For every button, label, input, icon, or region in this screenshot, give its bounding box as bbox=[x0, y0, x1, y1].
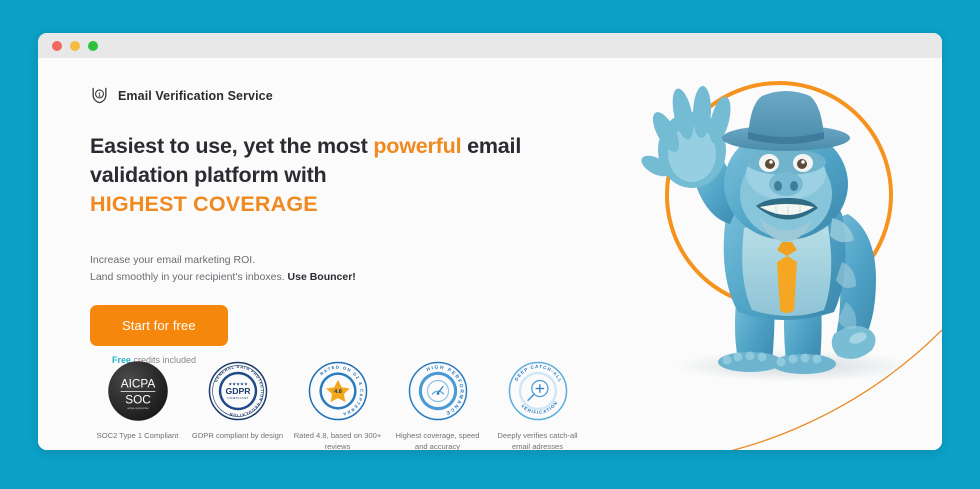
bouncer-shield-icon: 1 bbox=[90, 86, 109, 105]
badge-rating[interactable]: RATED ON G2 & CAPTERRA 4.8 Rated 4.8, ba… bbox=[290, 360, 385, 450]
badge-soc2[interactable]: AICPA SOC aicpa.org/soc4so SOC2 Type 1 C… bbox=[90, 360, 185, 450]
badge-caption: SOC2 Type 1 Compliant bbox=[90, 431, 185, 442]
deep-catch-all-verification-badge-icon: DEEP CATCH-ALL VERIFICATION bbox=[507, 360, 569, 422]
badge-catch-all[interactable]: DEEP CATCH-ALL VERIFICATION Deeply verif… bbox=[490, 360, 585, 450]
start-for-free-button[interactable]: Start for free bbox=[90, 305, 228, 346]
badge-gdpr[interactable]: GENERAL DATA PROTECTION REGULATION ★★★★★… bbox=[190, 360, 285, 450]
badge-caption: GDPR compliant by design bbox=[190, 431, 285, 442]
high-performance-badge-icon: HIGH PERFORMANCE bbox=[407, 360, 469, 422]
headline-accent: powerful bbox=[373, 134, 461, 158]
soc-text: SOC bbox=[125, 393, 151, 406]
browser-window: 1 Email Verification Service Easiest to … bbox=[38, 33, 942, 450]
brand-lockup: 1 Email Verification Service bbox=[90, 86, 590, 105]
aicpa-url-text: aicpa.org/soc4so bbox=[127, 406, 149, 410]
rating-score: 4.8 bbox=[334, 389, 342, 395]
page-title: Easiest to use, yet the most powerful em… bbox=[90, 132, 590, 220]
hero-subheading: Increase your email marketing ROI.Land s… bbox=[90, 252, 590, 286]
minimize-window-button[interactable] bbox=[70, 41, 80, 51]
headline-part-1: Easiest to use, yet the most bbox=[90, 134, 373, 158]
hero-content: 1 Email Verification Service Easiest to … bbox=[90, 86, 590, 365]
page-content: 1 Email Verification Service Easiest to … bbox=[38, 58, 942, 450]
brand-name: Email Verification Service bbox=[118, 89, 273, 103]
maximize-window-button[interactable] bbox=[88, 41, 98, 51]
aicpa-text: AICPA bbox=[120, 377, 155, 390]
badge-caption: Rated 4.8, based on 300+ reviews bbox=[290, 431, 385, 450]
svg-text:1: 1 bbox=[98, 93, 101, 99]
close-window-button[interactable] bbox=[52, 41, 62, 51]
headline-caps: HIGHEST COVERAGE bbox=[90, 192, 318, 216]
svg-text:COMPLIANT: COMPLIANT bbox=[227, 396, 248, 400]
svg-text:GDPR: GDPR bbox=[225, 386, 251, 396]
subheading-line-2: Land smoothly in your recipient's inboxe… bbox=[90, 271, 288, 283]
subheading-emphasis: Use Bouncer! bbox=[288, 271, 356, 283]
aicpa-soc-badge-icon: AICPA SOC aicpa.org/soc4so bbox=[107, 360, 169, 422]
badge-caption: Highest coverage, speed and accuracy bbox=[390, 431, 485, 450]
badge-caption: Deeply verifies catch-all email adresses bbox=[490, 431, 585, 450]
gdpr-compliant-badge-icon: GENERAL DATA PROTECTION REGULATION ★★★★★… bbox=[207, 360, 269, 422]
blue-gorilla-mascot-icon bbox=[626, 66, 942, 446]
browser-titlebar bbox=[38, 33, 942, 58]
subheading-line-1: Increase your email marketing ROI. bbox=[90, 254, 255, 266]
badge-performance[interactable]: HIGH PERFORMANCE Highest coverage, speed… bbox=[390, 360, 485, 450]
g2-capterra-rating-badge-icon: RATED ON G2 & CAPTERRA 4.8 bbox=[307, 360, 369, 422]
trust-badges-row: AICPA SOC aicpa.org/soc4so SOC2 Type 1 C… bbox=[90, 360, 585, 450]
